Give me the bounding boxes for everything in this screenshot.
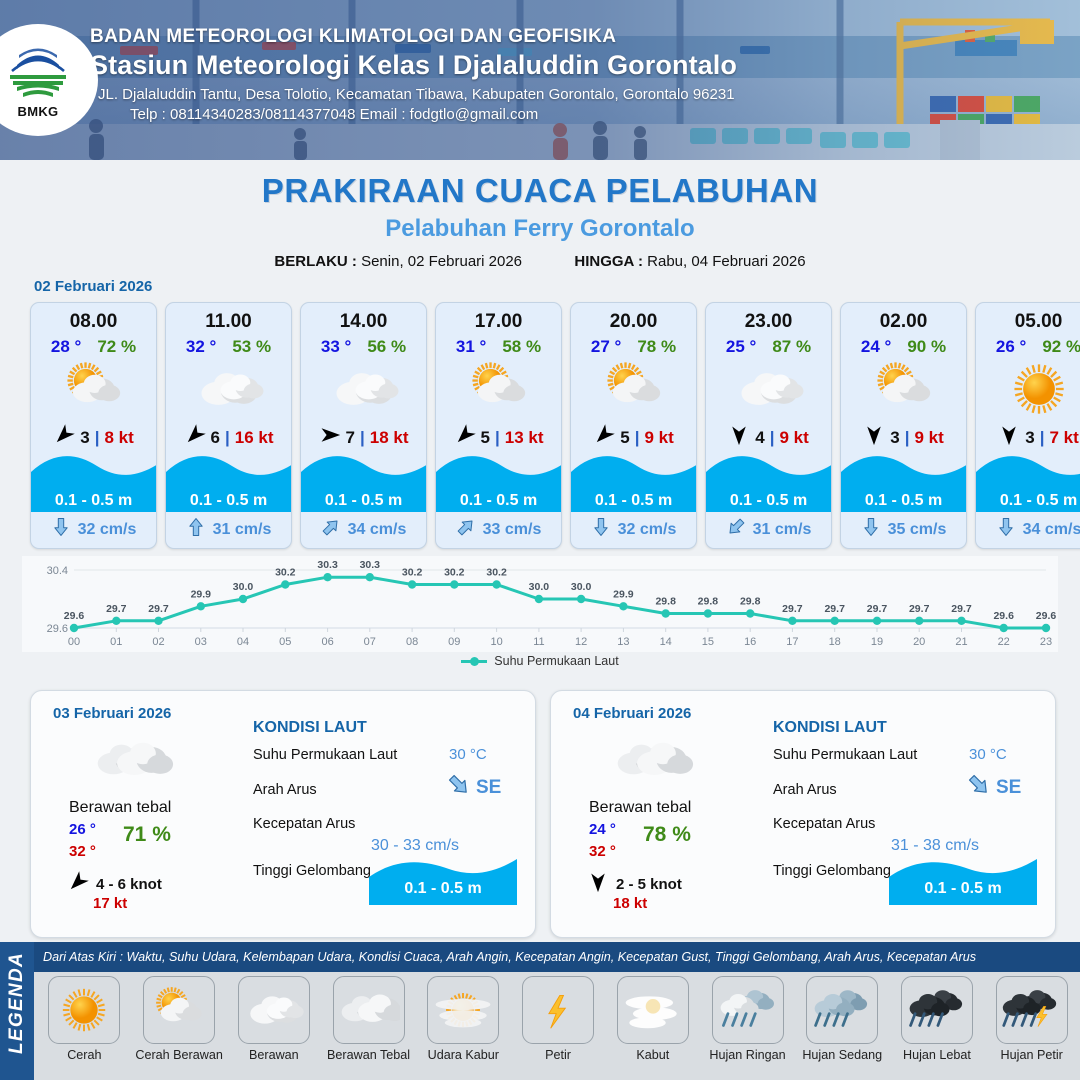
panel-wave-graphic: 0.1 - 0.5 m	[889, 855, 1037, 905]
wind-direction-arrow-icon	[587, 871, 609, 898]
weather-icon-cerah	[976, 360, 1080, 418]
sea-conditions-title: KONDISI LAUT	[253, 719, 367, 737]
svg-text:07: 07	[364, 636, 376, 648]
card-humidity: 92 %	[1042, 337, 1080, 357]
weather-icon-berawan	[706, 360, 831, 418]
panel-wind: 2 - 5 knot	[587, 871, 682, 898]
sst-chart-svg: 30.429.600010203040506070809101112131415…	[22, 556, 1058, 652]
card-wind-speed: 3	[890, 428, 899, 448]
legend-label: Suhu Permukaan Laut	[494, 654, 618, 668]
svg-text:19: 19	[871, 636, 883, 648]
validity-range: BERLAKU : Senin, 02 Februari 2026 HINGGA…	[0, 253, 1080, 270]
legenda-item: Petir	[512, 976, 605, 1062]
panel-humidity: 78 %	[643, 823, 691, 847]
svg-text:16: 16	[744, 636, 756, 648]
bmkg-logo-text: BMKG	[18, 104, 59, 119]
svg-text:30.0: 30.0	[233, 581, 254, 593]
svg-text:30.2: 30.2	[444, 567, 465, 579]
svg-text:30.3: 30.3	[360, 559, 381, 571]
panel-wave-value: 0.1 - 0.5 m	[369, 880, 517, 898]
panel-gust: 18 kt	[613, 895, 647, 912]
card-temperature: 27 °	[591, 337, 621, 357]
svg-text:30.2: 30.2	[402, 567, 423, 579]
current-direction-value-group: SE	[447, 773, 501, 802]
sea-conditions-title: KONDISI LAUT	[773, 719, 887, 737]
card-current-speed: 32 cm/s	[78, 521, 137, 539]
card-current: 33 cm/s	[436, 517, 561, 542]
svg-text:10: 10	[490, 636, 502, 648]
legenda-icon-hujan-lebat	[901, 976, 973, 1044]
legenda-sidebar: LEGENDA	[0, 942, 34, 1080]
card-current: 32 cm/s	[31, 517, 156, 542]
legenda-icon-hujan-ringan	[712, 976, 784, 1044]
card-humidity: 78 %	[637, 337, 676, 357]
card-humidity: 56 %	[367, 337, 406, 357]
card-temp-hum: 26 ° 92 %	[976, 337, 1080, 357]
card-wave-height: 0.1 - 0.5 m	[301, 492, 426, 510]
svg-text:15: 15	[702, 636, 714, 648]
current-direction-arrow-icon	[996, 517, 1016, 542]
card-time: 05.00	[1015, 311, 1063, 333]
wind-direction-arrow-icon	[863, 424, 885, 451]
legenda-item-label: Hujan Lebat	[903, 1048, 971, 1062]
current-direction-arrow-icon	[321, 517, 341, 542]
card-temperature: 28 °	[51, 337, 81, 357]
panel-temp-max: 32 °	[69, 843, 96, 860]
bmkg-logo-mark	[7, 41, 69, 103]
card-temp-hum: 24 ° 90 %	[841, 337, 966, 357]
svg-text:30.0: 30.0	[571, 581, 592, 593]
weather-icon-cerah-berawan	[31, 360, 156, 418]
svg-text:29.6: 29.6	[47, 623, 68, 635]
card-humidity: 87 %	[772, 337, 811, 357]
legenda-icon-berawan-tebal	[333, 976, 405, 1044]
hourly-card: 08.00 28 ° 72 % 3 | 8 kt	[30, 302, 157, 549]
card-temp-hum: 33 ° 56 %	[301, 337, 426, 357]
legend-marker-icon	[461, 660, 487, 663]
card-wave-height: 0.1 - 0.5 m	[706, 492, 831, 510]
hingga-label: HINGGA :	[574, 253, 643, 270]
svg-text:18: 18	[829, 636, 841, 648]
panel-condition: Berawan tebal	[589, 799, 691, 817]
current-speed-label: Kecepatan Arus	[253, 816, 355, 832]
panel-date: 03 Februari 2026	[53, 705, 171, 722]
wave-height-label: Tinggi Gelombang	[773, 863, 891, 879]
card-temp-hum: 31 ° 58 %	[436, 337, 561, 357]
legenda-item: Hujan Sedang	[796, 976, 889, 1062]
page-title: PRAKIRAAN CUACA PELABUHAN	[0, 172, 1080, 210]
card-gust: 9 kt	[914, 428, 943, 448]
card-wind-speed: 3	[80, 428, 89, 448]
separator: |	[95, 428, 100, 448]
legenda-sidebar-title: LEGENDA	[6, 948, 28, 1058]
daily-forecast-panels: 03 Februari 2026 Berawan tebal 26 ° 32 °…	[30, 690, 1056, 938]
legenda-icon-cerah-berawan	[143, 976, 215, 1044]
wave-height-label: Tinggi Gelombang	[253, 863, 371, 879]
svg-text:20: 20	[913, 636, 925, 648]
svg-text:29.8: 29.8	[655, 596, 676, 608]
legenda-item-label: Petir	[545, 1048, 571, 1062]
card-current-speed: 35 cm/s	[888, 521, 947, 539]
legenda-item: Cerah	[38, 976, 131, 1062]
card-temperature: 33 °	[321, 337, 351, 357]
station-contact: Telp : 08114340283/08114377048 Email : f…	[130, 106, 1070, 123]
card-temperature: 26 °	[996, 337, 1026, 357]
card-time: 08.00	[70, 311, 118, 333]
svg-text:02: 02	[152, 636, 164, 648]
card-current: 35 cm/s	[841, 517, 966, 542]
legenda-icon-udara-kabur	[427, 976, 499, 1044]
card-temperature: 25 °	[726, 337, 756, 357]
legenda-icon-petir	[522, 976, 594, 1044]
card-time: 17.00	[475, 311, 523, 333]
hourly-card: 17.00 31 ° 58 % 5 | 13 kt	[435, 302, 562, 549]
card-gust: 16 kt	[235, 428, 274, 448]
card-wind: 6 | 16 kt	[184, 424, 274, 451]
current-direction-value: SE	[476, 777, 501, 799]
svg-text:29.6: 29.6	[64, 610, 85, 622]
legenda-icon-berawan	[238, 976, 310, 1044]
card-wind-speed: 5	[481, 428, 490, 448]
separator: |	[495, 428, 500, 448]
card-wind: 7 | 18 kt	[319, 424, 409, 451]
legenda-note: Dari Atas Kiri : Waktu, Suhu Udara, Kele…	[34, 950, 976, 964]
agency-name: BADAN METEOROLOGI KLIMATOLOGI DAN GEOFIS…	[90, 26, 1070, 48]
panel-gust: 17 kt	[93, 895, 127, 912]
weather-icon-berawan	[301, 360, 426, 418]
svg-text:29.6: 29.6	[993, 610, 1014, 622]
legenda-item-label: Hujan Ringan	[709, 1048, 785, 1062]
svg-text:01: 01	[110, 636, 122, 648]
title-section: PRAKIRAAN CUACA PELABUHAN Pelabuhan Ferr…	[0, 160, 1080, 270]
card-current: 32 cm/s	[571, 517, 696, 542]
wind-direction-arrow-icon	[454, 424, 476, 451]
hourly-card: 11.00 32 ° 53 % 6 | 16 kt	[165, 302, 292, 549]
wind-direction-arrow-icon	[184, 424, 206, 451]
legenda-item-label: Berawan Tebal	[327, 1048, 410, 1062]
hourly-card: 23.00 25 ° 87 % 4 | 9 kt 0	[705, 302, 832, 549]
card-time: 20.00	[610, 311, 658, 333]
svg-text:22: 22	[998, 636, 1010, 648]
svg-text:30.2: 30.2	[275, 567, 296, 579]
card-wind-speed: 4	[755, 428, 764, 448]
svg-text:29.8: 29.8	[740, 596, 761, 608]
card-current: 31 cm/s	[166, 517, 291, 542]
legenda-item-label: Hujan Petir	[1001, 1048, 1063, 1062]
svg-text:30.0: 30.0	[529, 581, 550, 593]
current-direction-arrow-icon	[447, 773, 471, 802]
separator: |	[225, 428, 230, 448]
card-wind-speed: 5	[620, 428, 629, 448]
card-time: 11.00	[205, 311, 252, 333]
current-direction-value: SE	[996, 777, 1021, 799]
svg-text:29.7: 29.7	[148, 603, 169, 615]
card-gust: 18 kt	[370, 428, 409, 448]
hourly-forecast-row: 08.00 28 ° 72 % 3 | 8 kt	[30, 302, 1080, 549]
legenda-item: Hujan Lebat	[891, 976, 984, 1062]
card-wave-height: 0.1 - 0.5 m	[571, 492, 696, 510]
svg-text:00: 00	[68, 636, 80, 648]
legenda-icon-kabut	[617, 976, 689, 1044]
current-speed-value: 30 - 33 cm/s	[371, 837, 459, 855]
sst-value: 30 °C	[449, 746, 487, 763]
svg-text:11: 11	[533, 636, 544, 648]
daily-forecast-panel: 03 Februari 2026 Berawan tebal 26 ° 32 °…	[30, 690, 536, 938]
card-current: 34 cm/s	[976, 517, 1080, 542]
wind-direction-arrow-icon	[53, 424, 75, 451]
panel-condition: Berawan tebal	[69, 799, 171, 817]
svg-text:21: 21	[955, 636, 967, 648]
berlaku-label: BERLAKU :	[274, 253, 357, 270]
wind-direction-arrow-icon	[67, 871, 89, 898]
legenda-item-label: Berawan	[249, 1048, 299, 1062]
legenda-items: Cerah Cerah Berawan	[38, 976, 1078, 1062]
card-temp-hum: 25 ° 87 %	[706, 337, 831, 357]
legenda-item: Hujan Petir	[985, 976, 1078, 1062]
card-humidity: 58 %	[502, 337, 541, 357]
card-wind: 3 | 8 kt	[53, 424, 134, 451]
panel-wind-range: 2 - 5 knot	[616, 876, 682, 893]
svg-text:29.7: 29.7	[867, 603, 888, 615]
card-current-speed: 34 cm/s	[348, 521, 407, 539]
card-humidity: 72 %	[97, 337, 136, 357]
current-speed-label: Kecepatan Arus	[773, 816, 875, 832]
header-text-block: BADAN METEOROLOGI KLIMATOLOGI DAN GEOFIS…	[90, 26, 1070, 123]
svg-text:30.2: 30.2	[486, 567, 507, 579]
card-wind: 5 | 13 kt	[454, 424, 544, 451]
station-name: Stasiun Meteorologi Kelas I Djalaluddin …	[90, 50, 1070, 81]
card-current: 31 cm/s	[706, 517, 831, 542]
svg-text:29.9: 29.9	[613, 588, 634, 600]
card-wave-height: 0.1 - 0.5 m	[31, 492, 156, 510]
svg-text:29.7: 29.7	[951, 603, 972, 615]
separator: |	[1040, 428, 1045, 448]
legenda-item-label: Kabut	[636, 1048, 669, 1062]
separator: |	[635, 428, 640, 448]
daily-forecast-panel: 04 Februari 2026 Berawan tebal 24 ° 32 °…	[550, 690, 1056, 938]
card-wind: 4 | 9 kt	[728, 424, 809, 451]
card-gust: 13 kt	[505, 428, 544, 448]
svg-text:29.7: 29.7	[782, 603, 803, 615]
card-current-speed: 31 cm/s	[753, 521, 812, 539]
card-temp-hum: 32 ° 53 %	[166, 337, 291, 357]
sst-label: Suhu Permukaan Laut	[773, 747, 917, 763]
legenda-item-label: Cerah	[67, 1048, 101, 1062]
card-wave-height: 0.1 - 0.5 m	[166, 492, 291, 510]
svg-text:29.7: 29.7	[909, 603, 930, 615]
card-current: 34 cm/s	[301, 517, 426, 542]
svg-text:14: 14	[660, 636, 672, 648]
wind-direction-arrow-icon	[998, 424, 1020, 451]
legenda-item: Berawan Tebal	[322, 976, 415, 1062]
card-wind: 5 | 9 kt	[593, 424, 674, 451]
svg-text:17: 17	[786, 636, 798, 648]
current-direction-arrow-icon	[967, 773, 991, 802]
current-direction-label: Arah Arus	[253, 782, 317, 798]
panel-wind: 4 - 6 knot	[67, 871, 162, 898]
card-time: 14.00	[340, 311, 388, 333]
svg-text:29.7: 29.7	[824, 603, 845, 615]
legenda-section: LEGENDA Dari Atas Kiri : Waktu, Suhu Uda…	[0, 942, 1080, 1080]
panel-temp-min: 26 °	[69, 821, 96, 838]
legenda-item: Cerah Berawan	[133, 976, 226, 1062]
card-wind: 3 | 9 kt	[863, 424, 944, 451]
wind-direction-arrow-icon	[728, 424, 750, 451]
panel-temp-min: 24 °	[589, 821, 616, 838]
legenda-icon-cerah	[48, 976, 120, 1044]
current-direction-arrow-icon	[726, 517, 746, 542]
svg-text:29.8: 29.8	[698, 596, 719, 608]
card-wind-speed: 7	[346, 428, 355, 448]
card-current-speed: 31 cm/s	[213, 521, 272, 539]
card-wind: 3 | 7 kt	[998, 424, 1079, 451]
svg-text:03: 03	[195, 636, 207, 648]
current-direction-arrow-icon	[186, 517, 206, 542]
svg-text:29.9: 29.9	[191, 588, 212, 600]
current-direction-label: Arah Arus	[773, 782, 837, 798]
card-current-speed: 33 cm/s	[483, 521, 542, 539]
card-temp-hum: 28 ° 72 %	[31, 337, 156, 357]
card-time: 02.00	[880, 311, 928, 333]
berlaku-value: Senin, 02 Februari 2026	[361, 253, 522, 270]
svg-text:08: 08	[406, 636, 418, 648]
separator: |	[360, 428, 365, 448]
card-temp-hum: 27 ° 78 %	[571, 337, 696, 357]
wind-direction-arrow-icon	[319, 424, 341, 451]
svg-text:13: 13	[617, 636, 629, 648]
legenda-icon-hujan-sedang	[806, 976, 878, 1044]
panel-wave-graphic: 0.1 - 0.5 m	[369, 855, 517, 905]
sst-chart: 30.429.600010203040506070809101112131415…	[22, 556, 1058, 674]
hourly-card: 14.00 33 ° 56 % 7 | 18 kt	[300, 302, 427, 549]
hourly-card: 02.00 24 ° 90 % 3 | 9 kt	[840, 302, 967, 549]
panel-wave-value: 0.1 - 0.5 m	[889, 880, 1037, 898]
weather-icon-cerah-berawan	[571, 360, 696, 418]
legenda-item-label: Hujan Sedang	[802, 1048, 882, 1062]
current-direction-arrow-icon	[456, 517, 476, 542]
card-wind-speed: 3	[1025, 428, 1034, 448]
card-wave-height: 0.1 - 0.5 m	[976, 492, 1080, 510]
panel-wind-range: 4 - 6 knot	[96, 876, 162, 893]
current-direction-arrow-icon	[591, 517, 611, 542]
card-time: 23.00	[745, 311, 793, 333]
svg-text:06: 06	[321, 636, 333, 648]
page-header: BMKG BADAN METEOROLOGI KLIMATOLOGI DAN G…	[0, 0, 1080, 160]
hourly-date-label: 02 Februari 2026	[34, 278, 152, 295]
svg-text:23: 23	[1040, 636, 1052, 648]
card-wave-height: 0.1 - 0.5 m	[436, 492, 561, 510]
weather-icon-cerah-berawan	[436, 360, 561, 418]
current-speed-value: 31 - 38 cm/s	[891, 837, 979, 855]
panel-humidity: 71 %	[123, 823, 171, 847]
hourly-card: 05.00 26 ° 92 % 3 | 7 kt 0.1 - 0.5 m 34	[975, 302, 1080, 549]
legenda-item: Kabut	[606, 976, 699, 1062]
card-temperature: 32 °	[186, 337, 216, 357]
legenda-item: Berawan	[227, 976, 320, 1062]
chart-legend: Suhu Permukaan Laut	[22, 654, 1058, 668]
card-gust: 8 kt	[104, 428, 133, 448]
hingga-value: Rabu, 04 Februari 2026	[647, 253, 805, 270]
svg-text:30.4: 30.4	[47, 565, 68, 577]
legenda-item: Udara Kabur	[417, 976, 510, 1062]
card-temperature: 24 °	[861, 337, 891, 357]
card-current-speed: 32 cm/s	[618, 521, 677, 539]
sst-label: Suhu Permukaan Laut	[253, 747, 397, 763]
card-humidity: 90 %	[907, 337, 946, 357]
panel-temp-max: 32 °	[589, 843, 616, 860]
legenda-item: Hujan Ringan	[701, 976, 794, 1062]
current-direction-arrow-icon	[861, 517, 881, 542]
panel-date: 04 Februari 2026	[573, 705, 691, 722]
weather-icon-berawan	[166, 360, 291, 418]
legenda-icon-hujan-petir	[996, 976, 1068, 1044]
svg-text:30.3: 30.3	[317, 559, 338, 571]
wind-direction-arrow-icon	[593, 424, 615, 451]
card-temperature: 31 °	[456, 337, 486, 357]
svg-text:05: 05	[279, 636, 291, 648]
card-wave-height: 0.1 - 0.5 m	[841, 492, 966, 510]
separator: |	[905, 428, 910, 448]
svg-text:29.7: 29.7	[106, 603, 127, 615]
card-gust: 9 kt	[779, 428, 808, 448]
hourly-card: 20.00 27 ° 78 % 5 | 9 kt	[570, 302, 697, 549]
sst-value: 30 °C	[969, 746, 1007, 763]
card-humidity: 53 %	[232, 337, 271, 357]
card-gust: 9 kt	[644, 428, 673, 448]
card-wind-speed: 6	[211, 428, 220, 448]
weather-icon-berawan-tebal	[605, 733, 695, 789]
legenda-note-bar: Dari Atas Kiri : Waktu, Suhu Udara, Kele…	[34, 942, 1080, 972]
separator: |	[770, 428, 775, 448]
svg-text:12: 12	[575, 636, 587, 648]
svg-text:09: 09	[448, 636, 460, 648]
legenda-item-label: Udara Kabur	[428, 1048, 499, 1062]
card-gust: 7 kt	[1049, 428, 1078, 448]
current-direction-value-group: SE	[967, 773, 1021, 802]
svg-text:04: 04	[237, 636, 249, 648]
weather-icon-berawan-tebal	[85, 733, 175, 789]
svg-text:29.6: 29.6	[1036, 610, 1057, 622]
current-direction-arrow-icon	[51, 517, 71, 542]
card-current-speed: 34 cm/s	[1023, 521, 1080, 539]
station-address: JL. Djalaluddin Tantu, Desa Tolotio, Kec…	[98, 86, 1070, 103]
legenda-item-label: Cerah Berawan	[135, 1048, 223, 1062]
page-subtitle: Pelabuhan Ferry Gorontalo	[0, 215, 1080, 243]
weather-icon-cerah-berawan	[841, 360, 966, 418]
